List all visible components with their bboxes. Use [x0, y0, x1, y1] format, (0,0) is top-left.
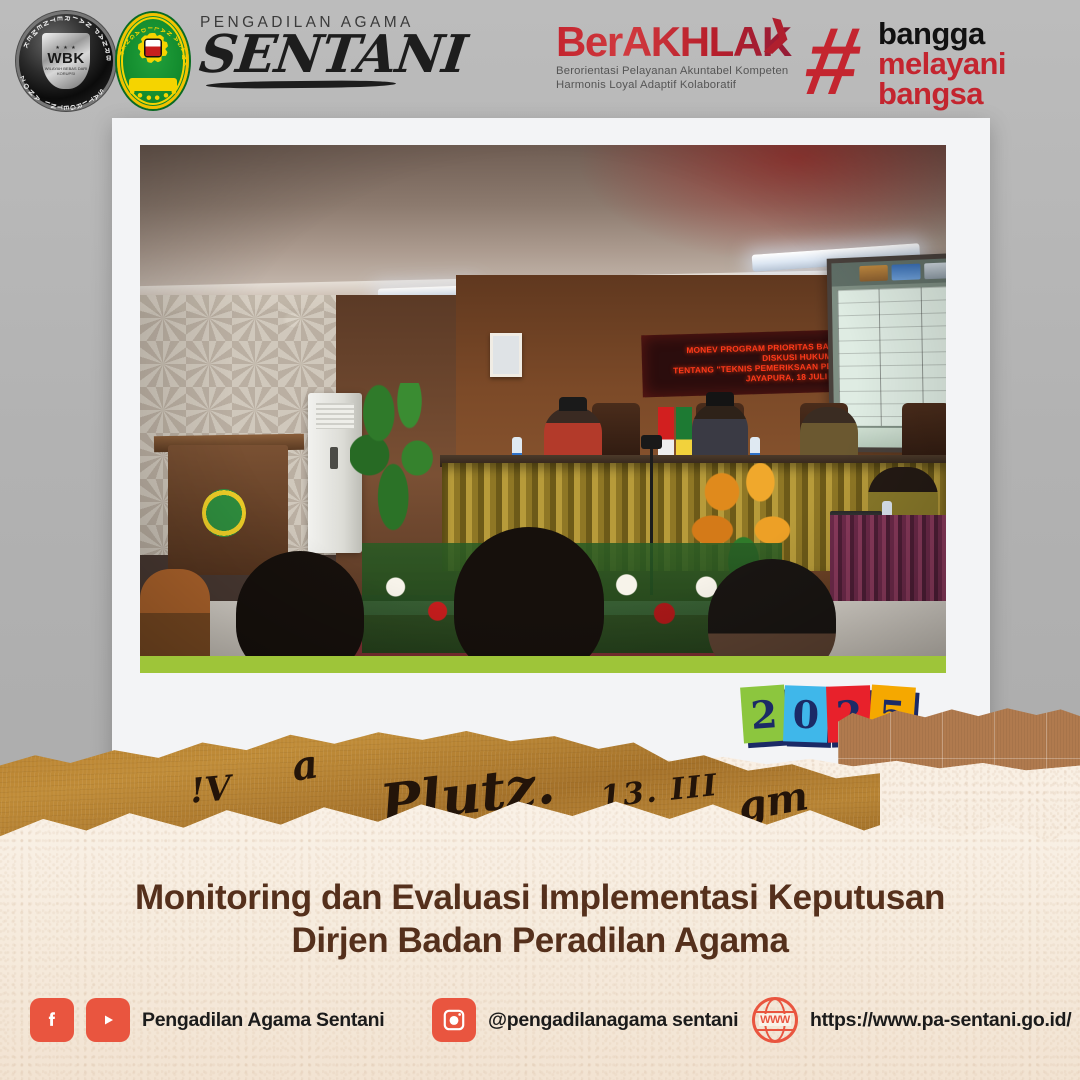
title-line-1: Monitoring dan Evaluasi Implementasi Kep…: [0, 876, 1080, 919]
year-digit-tile: 0: [783, 685, 829, 743]
wbk-zona-integritas-logo: K E M E N T E R I A N P A N R B Z O N A: [16, 11, 116, 111]
www-label: WWW: [759, 1014, 791, 1026]
instagram-icon[interactable]: [432, 998, 476, 1042]
instagram-handle: @pengadilanagama sentani: [488, 1009, 738, 1032]
photo-green-border: [140, 656, 946, 673]
header-bar: K E M E N T E R I A N P A N R B Z O N A: [0, 0, 1080, 120]
year-digit-tile: 2: [740, 685, 788, 744]
footer-website-group: WWW https://www.pa-sentani.go.id/: [752, 997, 1071, 1043]
photo-scene: MONEV PROGRAM PRIORITAS BADILAG 2025 & E…: [140, 145, 946, 673]
www-globe-icon[interactable]: WWW: [752, 997, 798, 1043]
bangga-line-2: melayani: [878, 49, 1006, 79]
berakhlak-logo: BerAKHLAK ❯ Berorientasi Pelayanan Akunt…: [556, 21, 806, 91]
berakhlak-subline-2: Harmonis Loyal Adaptif Kolaboratif: [556, 79, 806, 91]
youtube-icon[interactable]: [86, 998, 130, 1042]
facebook-icon[interactable]: [30, 998, 74, 1042]
footer-social-group: Pengadilan Agama Sentani: [30, 998, 384, 1042]
photo-card: MONEV PROGRAM PRIORITAS BADILAG 2025 & E…: [112, 118, 990, 784]
meeting-room-photo: MONEV PROGRAM PRIORITAS BADILAG 2025 & E…: [140, 145, 946, 673]
brand-name: SENTANI: [197, 30, 533, 80]
panrb-shield: ★ ★ ★ WBK WILAYAH BEBAS DARI KORUPSI: [42, 33, 90, 89]
pengadilan-agama-sentani-logo: P E N G A D I L A N A G A M A: [117, 13, 189, 109]
pa-logo-dots: [127, 89, 179, 103]
berakhlak-subline-1: Berorientasi Pelayanan Akuntabel Kompete…: [556, 65, 806, 77]
bangga-line-3: bangsa: [878, 79, 983, 109]
bangga-line-1: bangga: [878, 19, 985, 49]
bangga-melayani-bangsa-logo: # bangga melayani bangsa: [806, 14, 1056, 109]
brand-wordmark: PENGADILAN AGAMA SENTANI: [200, 14, 530, 88]
panrb-wbk-text: WBK: [47, 51, 84, 66]
photo-vignette: [140, 145, 946, 673]
social-footer: Pengadilan Agama Sentani @pengadilanagam…: [0, 990, 1080, 1054]
title-line-2: Dirjen Badan Peradilan Agama: [0, 919, 1080, 962]
poster-canvas: K E M E N T E R I A N P A N R B Z O N A: [0, 0, 1080, 1080]
page-title: Monitoring dan Evaluasi Implementasi Kep…: [0, 876, 1080, 963]
footer-instagram-group: @pengadilanagama sentani: [432, 998, 738, 1042]
website-url: https://www.pa-sentani.go.id/: [810, 1009, 1071, 1032]
handwriting-mark: !V: [188, 768, 233, 811]
panrb-sub-text: WILAYAH BEBAS DARI KORUPSI: [42, 67, 90, 76]
social-account-name: Pengadilan Agama Sentani: [142, 1009, 384, 1032]
hashtag-icon: #: [800, 23, 883, 105]
